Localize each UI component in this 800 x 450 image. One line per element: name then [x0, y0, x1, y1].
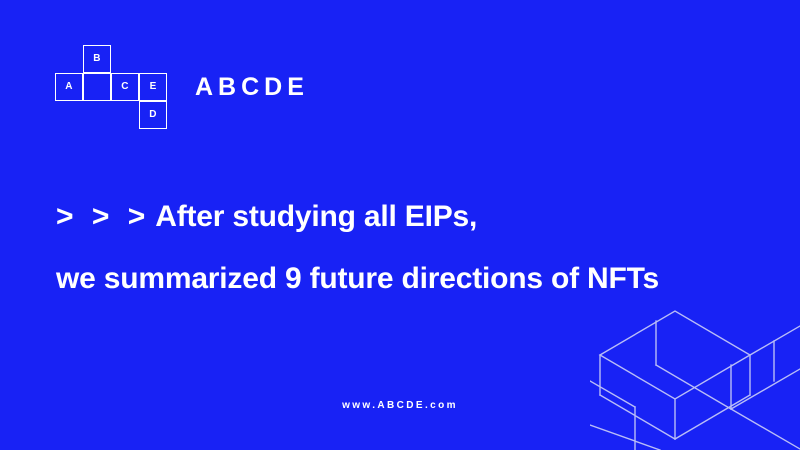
footer-url: www.ABCDE.com: [0, 401, 800, 411]
logo-cell: [83, 73, 111, 101]
chevron-prefix: > > >: [56, 200, 150, 233]
brand-wordmark: ABCDE: [195, 75, 309, 100]
logo-cell: E: [139, 73, 167, 101]
logo-cell: C: [111, 73, 139, 101]
logo-cell: A: [55, 73, 83, 101]
logo-cell: B: [83, 45, 111, 73]
slide: B A C E D ABCDE > > >After studying all …: [0, 0, 800, 450]
logo-grid-icon: B A C E D: [55, 45, 167, 129]
brand-lockup: B A C E D ABCDE: [55, 45, 309, 129]
headline-line-1: > > >After studying all EIPs,: [56, 186, 776, 248]
headline-line-2: we summarized 9 future directions of NFT…: [56, 248, 776, 310]
headline: > > >After studying all EIPs, we summari…: [56, 186, 776, 310]
headline-line-1-text: After studying all EIPs,: [155, 200, 477, 233]
logo-cell: D: [139, 101, 167, 129]
